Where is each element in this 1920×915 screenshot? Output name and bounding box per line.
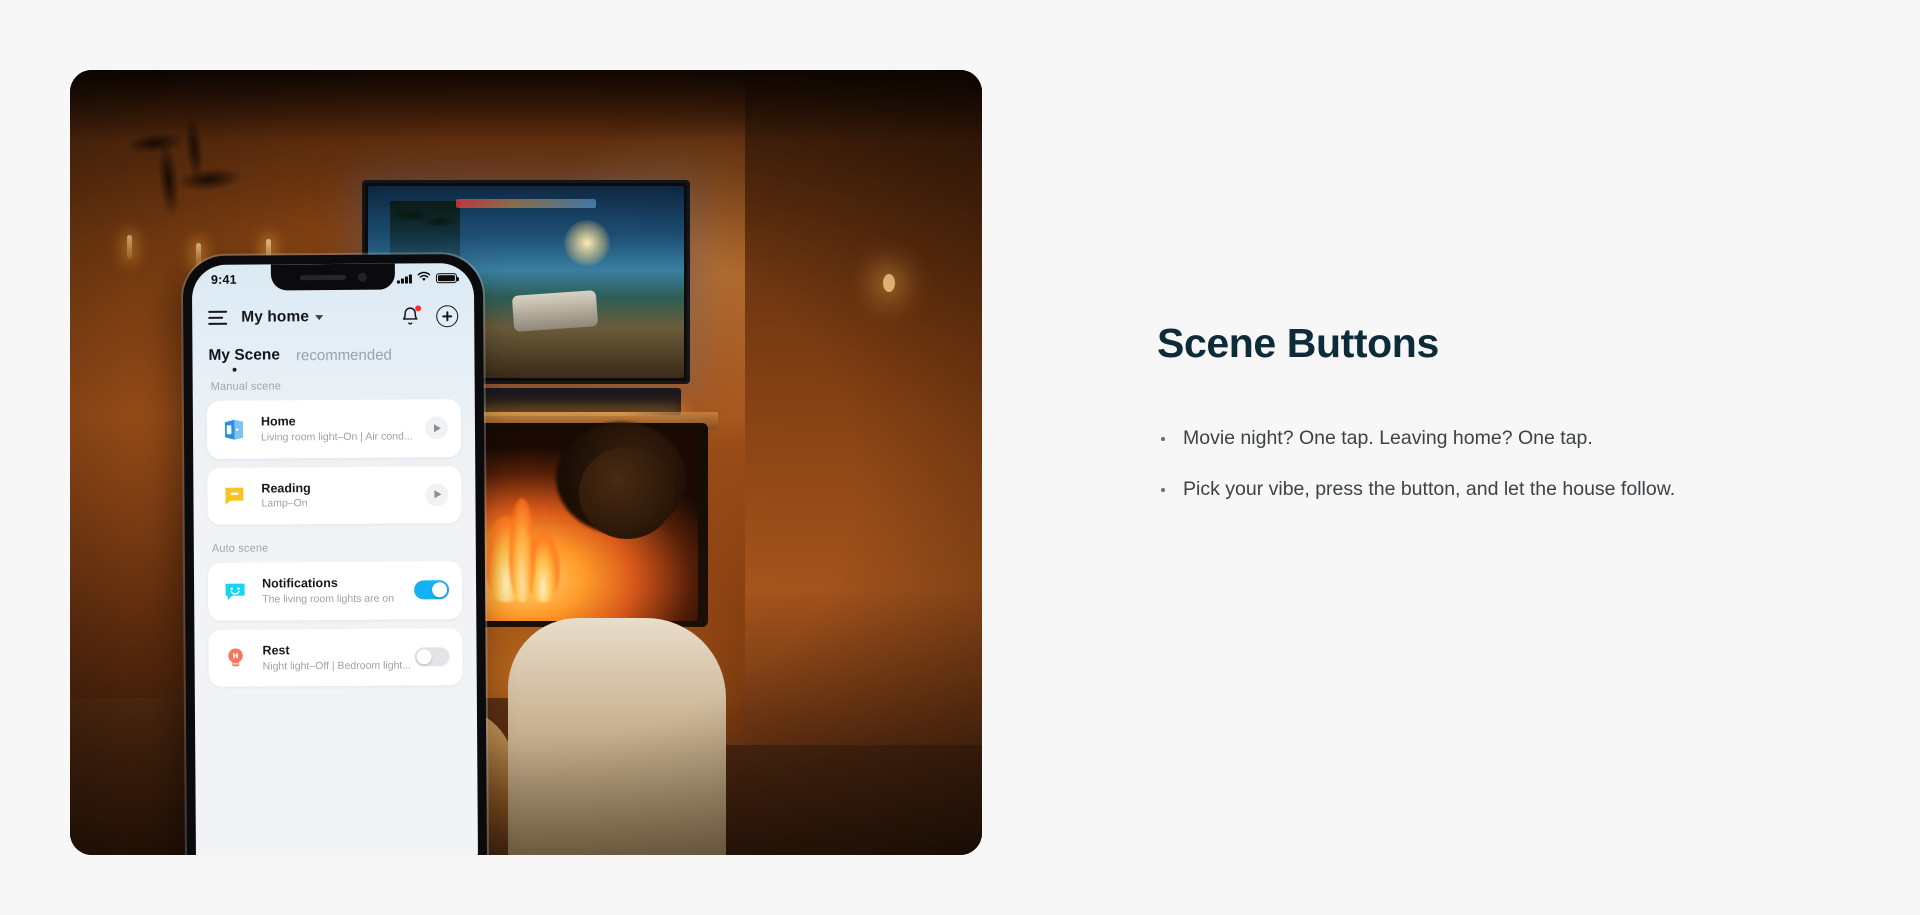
slide-root: 9:41: [0, 0, 1920, 915]
scene-row-home[interactable]: Home Living room light–On | Air cond...: [207, 399, 461, 458]
light-bulb-icon: [221, 644, 249, 672]
list-item: Pick your vibe, press the button, and le…: [1157, 464, 1837, 515]
scene-subtitle: Night light–Off | Bedroom light...: [263, 658, 415, 674]
spacer: [323, 317, 400, 318]
section-label-auto: Auto scene: [208, 532, 462, 563]
scene-subtitle: Lamp–On: [261, 496, 421, 512]
phone-screen: 9:41: [192, 263, 478, 855]
smiley-message-icon: [221, 578, 249, 606]
chevron-down-icon[interactable]: [315, 315, 323, 320]
scene-text: Home Living room light–On | Air cond...: [261, 412, 425, 445]
rest-toggle[interactable]: [415, 647, 450, 666]
tab-recommended[interactable]: recommended: [296, 347, 392, 372]
hamburger-menu-icon[interactable]: [208, 311, 227, 325]
status-icons: [397, 269, 457, 287]
tab-my-scene[interactable]: My Scene: [208, 346, 280, 371]
home-name-label[interactable]: My home: [241, 308, 309, 326]
plus-circle-icon[interactable]: [436, 305, 458, 327]
list-item: Movie night? One tap. Leaving home? One …: [1157, 413, 1837, 464]
feature-bullet-list: Movie night? One tap. Leaving home? One …: [1157, 413, 1837, 515]
scene-text: Reading Lamp–On: [261, 479, 425, 512]
battery-icon: [436, 273, 457, 284]
open-door-icon: [220, 415, 248, 443]
notification-badge-dot: [415, 305, 421, 311]
copy-panel: Scene Buttons Movie night? One tap. Leav…: [1157, 320, 1837, 515]
notification-bell-icon[interactable]: [400, 306, 420, 326]
scene-row-notifications[interactable]: Notifications The living room lights are…: [208, 561, 462, 620]
play-icon[interactable]: [425, 483, 448, 506]
scene-subtitle: The living room lights are on: [262, 591, 414, 607]
play-icon[interactable]: [425, 416, 448, 439]
scene-subtitle: Living room light–On | Air cond...: [261, 429, 421, 445]
status-time: 9:41: [211, 273, 237, 287]
status-bar: 9:41: [192, 263, 474, 295]
phone-mockup: 9:41: [183, 254, 487, 855]
scene-title: Notifications: [262, 575, 414, 593]
scene-title: Reading: [261, 479, 425, 497]
hero-image-card: 9:41: [70, 70, 982, 855]
scene-list: Manual scene Home Livin: [193, 370, 477, 687]
scene-tabs: My Scene recommended: [192, 335, 474, 372]
section-label-manual: Manual scene: [207, 370, 461, 401]
scene-row-reading[interactable]: Reading Lamp–On: [207, 466, 461, 525]
app-top-bar: My home: [192, 293, 474, 337]
scene-text: Notifications The living room lights are…: [262, 575, 414, 608]
scene-title: Home: [261, 412, 425, 430]
open-book-icon: [220, 482, 248, 510]
page-title: Scene Buttons: [1157, 320, 1837, 367]
notifications-toggle[interactable]: [414, 581, 449, 600]
scene-title: Rest: [262, 641, 414, 659]
cellular-signal-icon: [397, 273, 412, 283]
scene-text: Rest Night light–Off | Bedroom light...: [262, 641, 414, 674]
wifi-icon: [417, 269, 431, 287]
scene-row-rest[interactable]: Rest Night light–Off | Bedroom light...: [208, 628, 462, 687]
